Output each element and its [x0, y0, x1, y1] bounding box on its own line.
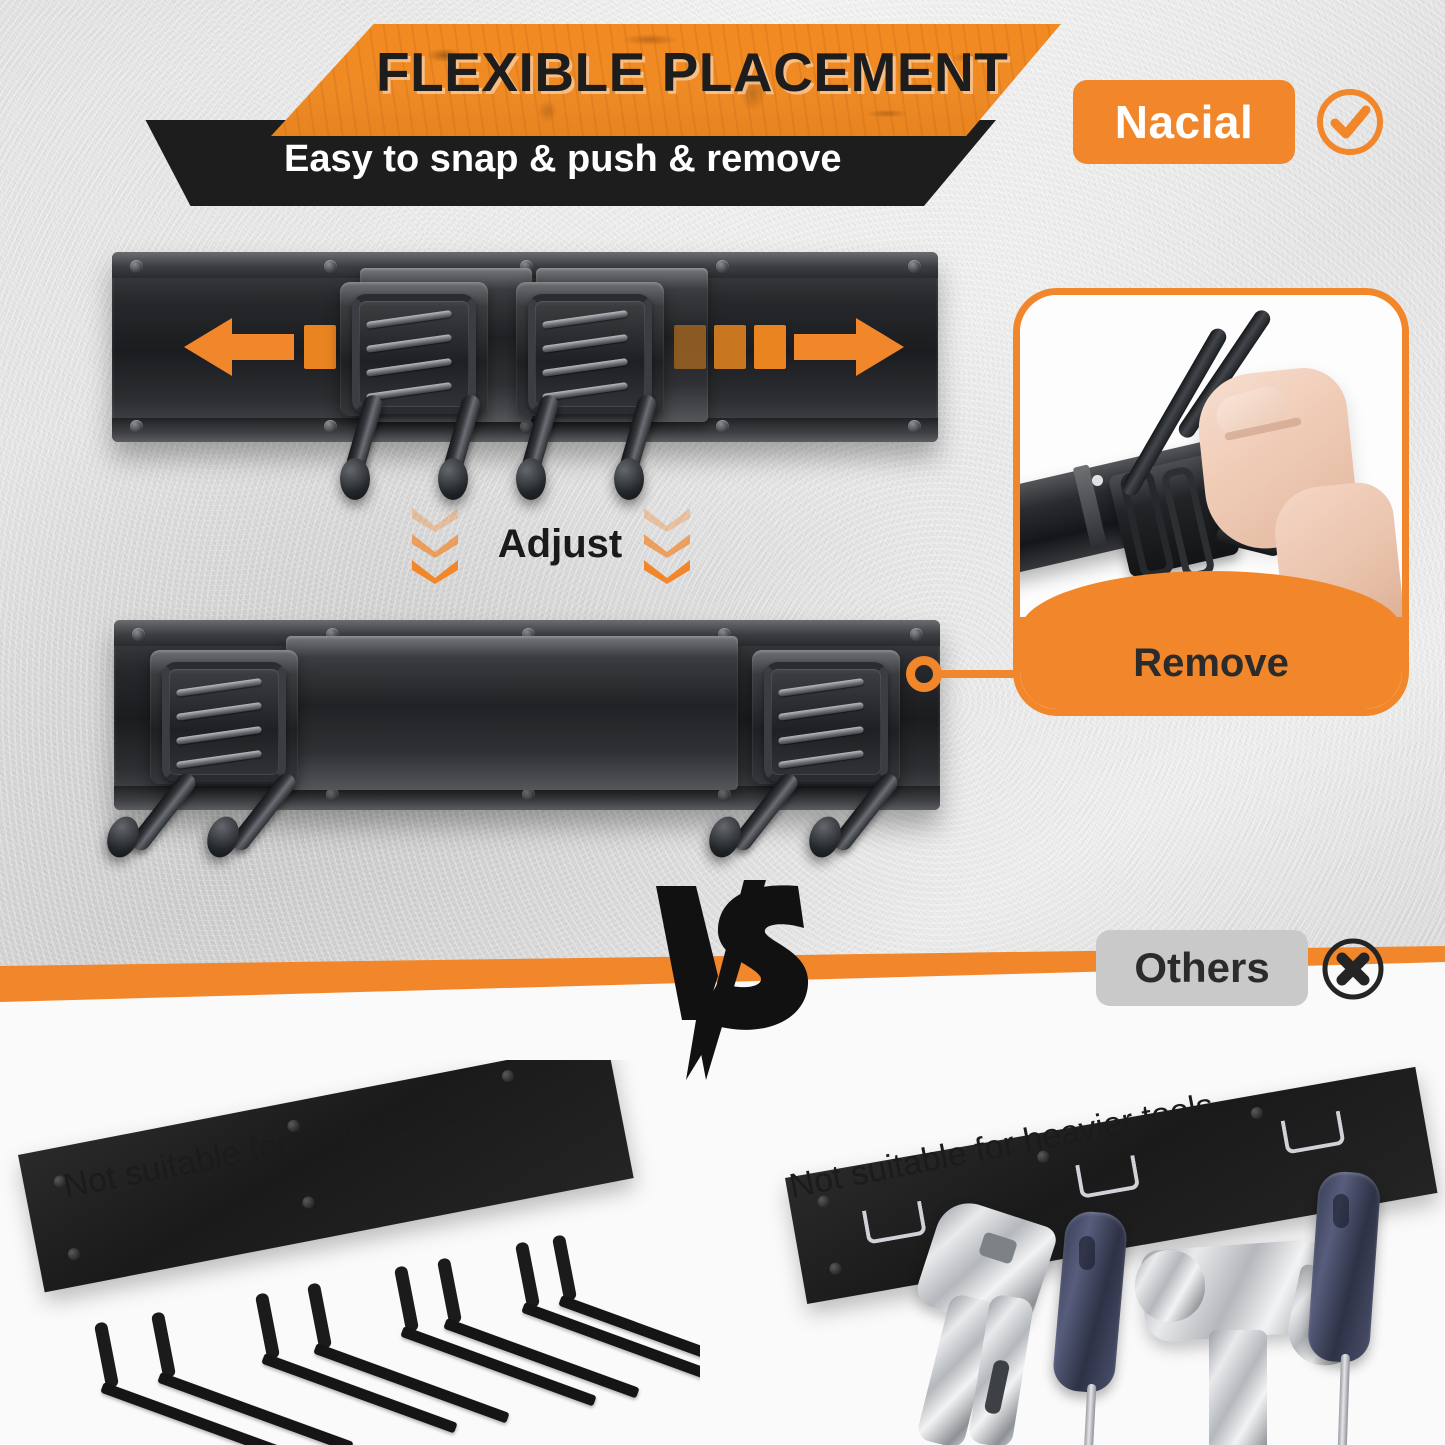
page-subtitle: Easy to snap & push & remove — [284, 138, 984, 181]
adjust-label: Adjust — [470, 522, 650, 567]
screw — [716, 260, 729, 273]
callout-connector-line — [936, 670, 1018, 678]
hook-tip — [202, 812, 245, 862]
arrow-right-icon — [794, 314, 904, 380]
arrow-left-icon — [184, 314, 294, 380]
slider-segment[interactable] — [286, 636, 738, 790]
wire-loop — [1281, 1111, 1346, 1155]
screw — [908, 260, 921, 273]
wire-prong — [552, 1234, 577, 1301]
wire-prong — [394, 1265, 419, 1332]
header-banner: FLEXIBLE PLACEMENT Easy to snap & push &… — [96, 24, 1056, 204]
infographic-root: FLEXIBLE PLACEMENT Easy to snap & push &… — [0, 0, 1445, 1445]
wire-loop — [1075, 1155, 1140, 1199]
screw — [130, 260, 143, 273]
handle-hole — [1333, 1194, 1349, 1228]
screw — [324, 420, 337, 433]
chevron-down-icon — [408, 558, 462, 584]
screw — [324, 260, 337, 273]
chevron-group-left — [408, 500, 462, 596]
connector-node-icon — [906, 656, 942, 692]
hook-assembly[interactable] — [340, 282, 488, 492]
screw — [1092, 475, 1103, 486]
chevron-down-icon — [640, 506, 694, 532]
chevron-group-right — [640, 500, 694, 596]
hook-tip — [340, 458, 370, 500]
wire-prong — [307, 1282, 332, 1349]
hook-tip — [614, 458, 644, 500]
screw — [910, 628, 923, 641]
hook-wire-frame — [764, 662, 888, 782]
arrow-trail-dash — [674, 325, 706, 369]
brand-badge: Nacial — [1073, 80, 1295, 164]
screw — [130, 420, 143, 433]
arrow-trail-dash — [714, 325, 746, 369]
check-circle-icon — [1313, 85, 1387, 159]
brand-name: Nacial — [1115, 95, 1254, 149]
remove-footer: Remove — [1020, 617, 1402, 709]
adjust-indicator: Adjust — [400, 500, 710, 596]
wire-prong — [515, 1241, 540, 1308]
screw — [67, 1247, 81, 1261]
screw — [1250, 1106, 1264, 1120]
screw — [301, 1195, 315, 1209]
screwdriver-shaft — [1337, 1354, 1350, 1445]
others-label: Others — [1134, 944, 1269, 992]
screwdriver-shaft — [1083, 1384, 1097, 1445]
hammer-handle — [1209, 1330, 1267, 1445]
screw — [829, 1262, 843, 1276]
wire-prong — [255, 1292, 280, 1359]
hook-tip — [516, 458, 546, 500]
wire-prong — [94, 1321, 119, 1388]
screw — [501, 1069, 515, 1083]
hook-tip — [804, 812, 847, 862]
arrow-trail-dash — [304, 325, 336, 369]
arrow-trail-dash — [754, 325, 786, 369]
x-circle-icon — [1318, 934, 1388, 1004]
screw — [716, 420, 729, 433]
wire-prong — [151, 1311, 176, 1378]
versus-mark — [648, 880, 818, 1080]
handle-hole — [1079, 1236, 1095, 1270]
others-badge: Others — [1096, 930, 1308, 1006]
chevron-down-icon — [640, 558, 694, 584]
hook-tip — [438, 458, 468, 500]
screw — [908, 420, 921, 433]
chevron-down-icon — [640, 532, 694, 558]
hook-wire-frame — [162, 662, 286, 782]
remove-callout-panel: Remove — [1013, 288, 1409, 716]
screw — [132, 628, 145, 641]
chevron-down-icon — [408, 506, 462, 532]
hook-assembly[interactable] — [752, 650, 900, 860]
tool-screwdriver-right — [1307, 1172, 1377, 1445]
hook-assembly[interactable] — [516, 282, 664, 492]
wire-prong — [437, 1257, 462, 1324]
hook-assembly[interactable] — [150, 650, 298, 860]
hammer-face — [1135, 1250, 1205, 1322]
remove-label: Remove — [1133, 641, 1289, 686]
chevron-down-icon — [408, 532, 462, 558]
page-title: FLEXIBLE PLACEMENT — [376, 40, 1056, 104]
